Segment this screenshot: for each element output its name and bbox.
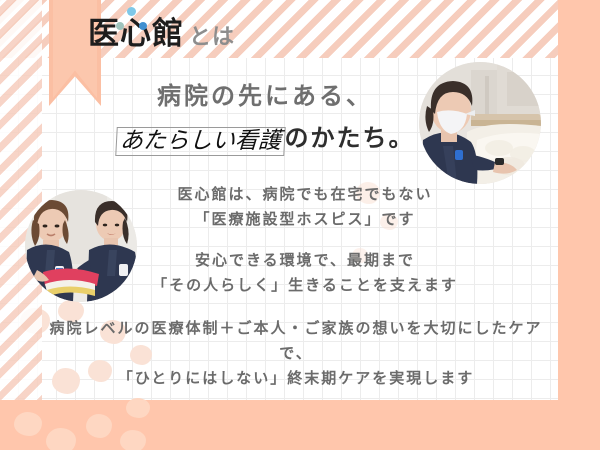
decor-blob bbox=[86, 414, 112, 438]
decor-blob bbox=[126, 398, 150, 418]
logo-suffix-text: とは bbox=[189, 19, 235, 51]
paragraph-3: 病院レベルの医療体制＋ご本人・ご家族の想いを大切にしたケアで、 「ひとりにはしな… bbox=[0, 316, 600, 390]
headline-line-2-tail: のかたち。 bbox=[285, 124, 415, 152]
decor-blob bbox=[46, 428, 76, 450]
logo-dot-top-icon bbox=[127, 7, 136, 16]
slide-canvas: 医心館 とは 病院の先にある、 あたらしい看護のかたち。 医心館は、病院でも在宅… bbox=[0, 0, 600, 450]
handwritten-emphasis-box: あたらしい看護 bbox=[115, 127, 286, 156]
nurse-with-patient-photo bbox=[419, 62, 541, 184]
nurse-with-patient-photo-art bbox=[419, 62, 541, 184]
two-nurses-photo-art bbox=[25, 190, 137, 302]
logo-mark-text: 医心館 bbox=[88, 8, 184, 53]
decor-blob bbox=[120, 430, 146, 450]
logo-title: 医心館 とは bbox=[88, 8, 235, 53]
logo-dot-left-icon bbox=[116, 22, 124, 30]
decor-blob bbox=[14, 412, 42, 436]
two-nurses-photo bbox=[25, 190, 137, 302]
logo-dot-right-icon bbox=[139, 22, 147, 30]
